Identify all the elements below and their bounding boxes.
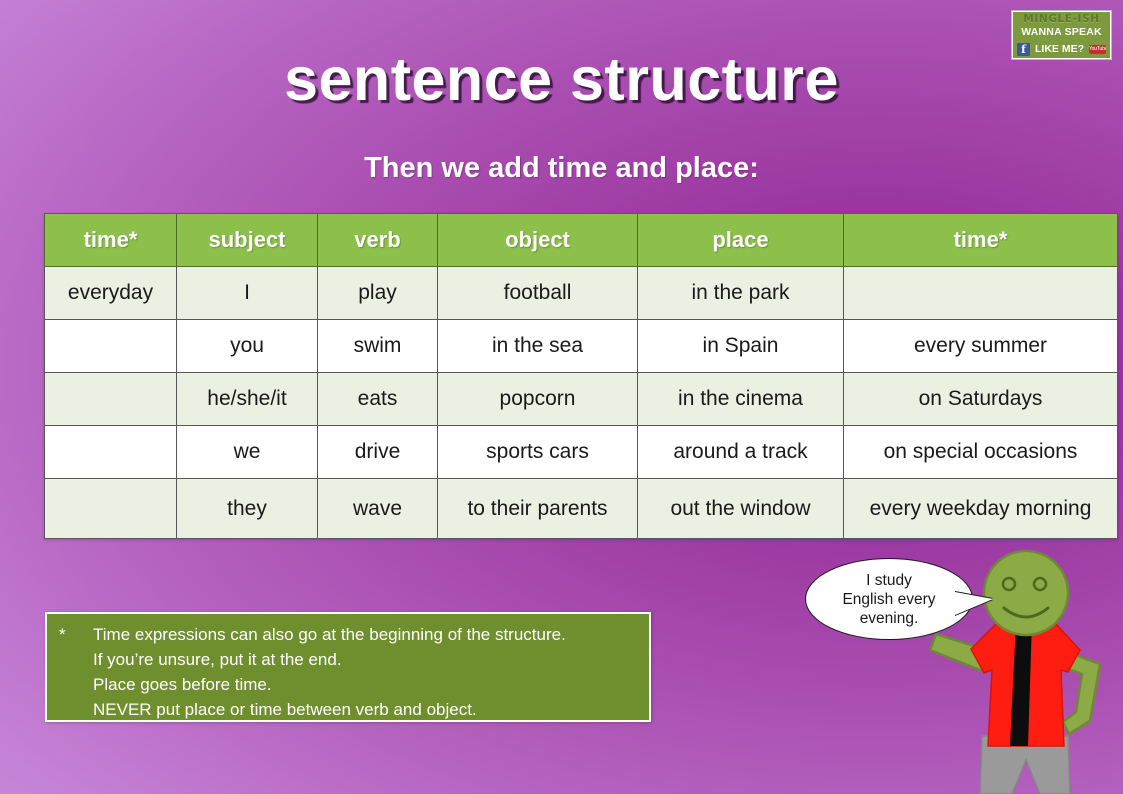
- column-header-subject: subject: [177, 214, 318, 267]
- page-subtitle: Then we add time and place:: [0, 152, 1123, 185]
- speech-bubble-tail: [955, 592, 993, 615]
- column-header-verb: verb: [318, 214, 438, 267]
- cell-subject: you: [177, 320, 318, 373]
- cell-object: in the sea: [438, 320, 638, 373]
- table-row: he/she/it eats popcorn in the cinema on …: [45, 373, 1118, 426]
- sentence-structure-table: time* subject verb object place time* ev…: [44, 213, 1118, 539]
- cell-subject: they: [177, 479, 318, 539]
- cell-time-end: [844, 267, 1118, 320]
- speech-bubble-line-1: I study: [806, 571, 972, 590]
- speech-bubble-line-3: evening.: [806, 609, 972, 628]
- cell-place: around a track: [638, 426, 844, 479]
- logo-tagline-line-1: WANNA SPEAK: [1013, 26, 1110, 38]
- cell-place: in the park: [638, 267, 844, 320]
- cell-time-end: every summer: [844, 320, 1118, 373]
- table-row: you swim in the sea in Spain every summe…: [45, 320, 1118, 373]
- footnote-line: NEVER put place or time between verb and…: [59, 697, 639, 722]
- cell-place: in Spain: [638, 320, 844, 373]
- cell-object: popcorn: [438, 373, 638, 426]
- footnote-bullet-spacer: [59, 697, 93, 722]
- footnote-line-1: Time expressions can also go at the begi…: [93, 622, 639, 647]
- cell-object: sports cars: [438, 426, 638, 479]
- column-header-place: place: [638, 214, 844, 267]
- cell-time-start: [45, 373, 177, 426]
- character-right-eye: [1034, 578, 1046, 590]
- character-head: [984, 551, 1068, 635]
- speech-bubble-line-2: English every: [806, 590, 972, 609]
- footnote-line-4: NEVER put place or time between verb and…: [93, 697, 639, 722]
- column-header-time-start: time*: [45, 214, 177, 267]
- cell-time-start: everyday: [45, 267, 177, 320]
- cell-time-start: [45, 320, 177, 373]
- table-header-row: time* subject verb object place time*: [45, 214, 1118, 267]
- cell-object: football: [438, 267, 638, 320]
- cell-verb: swim: [318, 320, 438, 373]
- cell-verb: drive: [318, 426, 438, 479]
- column-header-object: object: [438, 214, 638, 267]
- logo-brand-text: MINGLE-ISH: [1013, 13, 1110, 25]
- footnote-bullet-spacer: [59, 647, 93, 672]
- footnote-lines: * Time expressions can also go at the be…: [59, 622, 639, 722]
- table-row: everyday I play football in the park: [45, 267, 1118, 320]
- character-left-eye: [1003, 578, 1015, 590]
- cell-verb: eats: [318, 373, 438, 426]
- cell-subject: he/she/it: [177, 373, 318, 426]
- cell-time-start: [45, 479, 177, 539]
- table-row: they wave to their parents out the windo…: [45, 479, 1118, 539]
- slide-canvas: MINGLE-ISH WANNA SPEAK f LIKE ME? YouTub…: [0, 0, 1123, 794]
- cell-place: out the window: [638, 479, 844, 539]
- footnote-bullet: *: [59, 622, 93, 647]
- cell-object: to their parents: [438, 479, 638, 539]
- footnote-line: Place goes before time.: [59, 672, 639, 697]
- table-row: we drive sports cars around a track on s…: [45, 426, 1118, 479]
- footnote-bullet-spacer: [59, 672, 93, 697]
- column-header-time-end: time*: [844, 214, 1118, 267]
- cell-time-end: on special occasions: [844, 426, 1118, 479]
- speech-bubble-text: I study English every evening.: [806, 571, 972, 628]
- cell-time-end: every weekday morning: [844, 479, 1118, 539]
- footnote-line: * Time expressions can also go at the be…: [59, 622, 639, 647]
- cell-place: in the cinema: [638, 373, 844, 426]
- footnote-line-2: If you’re unsure, put it at the end.: [93, 647, 639, 672]
- table-header: time* subject verb object place time*: [45, 214, 1118, 267]
- footnote-box: * Time expressions can also go at the be…: [45, 612, 651, 722]
- cell-subject: I: [177, 267, 318, 320]
- cell-subject: we: [177, 426, 318, 479]
- cell-verb: wave: [318, 479, 438, 539]
- footnote-line: If you’re unsure, put it at the end.: [59, 647, 639, 672]
- cell-time-start: [45, 426, 177, 479]
- speech-bubble: I study English every evening.: [805, 558, 973, 640]
- footnote-line-3: Place goes before time.: [93, 672, 639, 697]
- cell-verb: play: [318, 267, 438, 320]
- page-title: sentence structure: [0, 44, 1123, 114]
- table-body: everyday I play football in the park you…: [45, 267, 1118, 539]
- cell-time-end: on Saturdays: [844, 373, 1118, 426]
